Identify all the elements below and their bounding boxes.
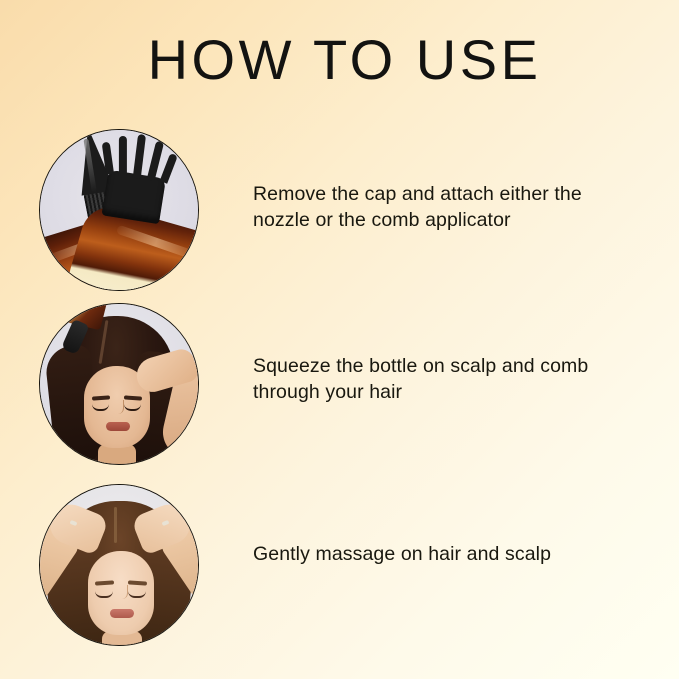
necklace [106,460,122,464]
nose [118,585,128,599]
woman-massaging-scalp-photo [40,485,198,645]
step-1: Remove the cap and attach either the noz… [0,125,679,295]
comb-prong [119,136,127,176]
step-2: Squeeze the bottle on scalp and comb thr… [0,299,679,469]
page-title: HOW TO USE [0,30,679,89]
comb-applicator-base [102,170,166,225]
step-3-image [39,484,199,646]
step-3: Gently massage on hair and scalp [0,480,679,650]
step-2-text: Squeeze the bottle on scalp and comb thr… [253,354,623,406]
step-2-image [39,303,199,465]
lips [110,609,134,618]
step-1-image [39,129,199,291]
nose [114,400,124,414]
lips [106,422,130,431]
how-to-use-infographic: HOW TO USE [0,0,679,679]
woman-applying-oil-to-scalp-photo [40,304,198,464]
step-3-text: Gently massage on hair and scalp [253,542,623,568]
bottles-with-nozzle-and-comb-applicator-photo [40,130,198,290]
hair-parting [114,507,117,543]
step-1-text: Remove the cap and attach either the noz… [253,182,623,234]
